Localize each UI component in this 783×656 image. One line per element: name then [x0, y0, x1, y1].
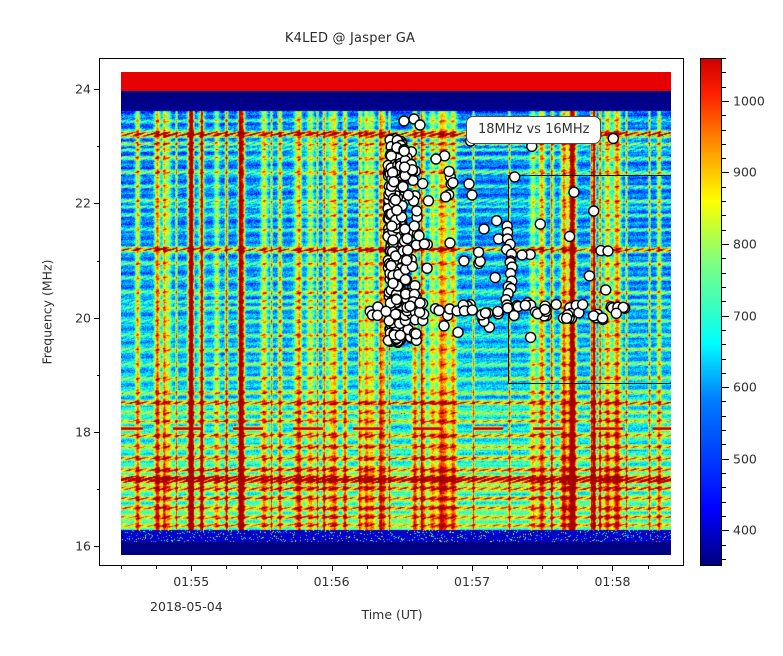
y-axis-title: Frequency (MHz)	[40, 259, 55, 364]
x-tick-minor	[261, 565, 262, 569]
colorbar-tick-major	[722, 101, 729, 102]
spectrogram-image	[121, 72, 671, 555]
x-tick-label: 01:57	[454, 574, 490, 589]
colorbar-tick-minor	[722, 215, 726, 216]
y-tick-major	[94, 432, 100, 433]
colorbar-tick-label: 500	[733, 451, 757, 466]
x-tick-minor	[648, 565, 649, 569]
colorbar-tick-minor	[722, 344, 726, 345]
y-tick-label: 16	[75, 539, 91, 554]
colorbar-tick-major	[722, 316, 729, 317]
x-tick-major	[332, 565, 333, 571]
x-tick-major	[472, 565, 473, 571]
y-tick-minor	[97, 489, 101, 490]
colorbar-tick-minor	[722, 301, 726, 302]
colorbar-tick-label: 700	[733, 308, 757, 323]
colorbar-tick-minor	[722, 115, 726, 116]
x-tick-label: 01:56	[314, 574, 350, 589]
plot-title: K4LED @ Jasper GA	[0, 31, 700, 46]
colorbar-tick-label: 400	[733, 523, 757, 538]
x-tick-minor	[297, 565, 298, 569]
x-tick-minor	[226, 565, 227, 569]
colorbar-tick-minor	[722, 401, 726, 402]
colorbar-tick-minor	[722, 258, 726, 259]
colorbar-tick-minor	[722, 373, 726, 374]
colorbar-tick-minor	[722, 545, 726, 546]
x-tick-major	[191, 565, 192, 571]
colorbar-tick-label: 600	[733, 380, 757, 395]
colorbar-tick-major	[722, 459, 729, 460]
colorbar-tick-minor	[722, 273, 726, 274]
figure-canvas: K4LED @ Jasper GA 1618202224 01:5501:560…	[0, 0, 783, 656]
colorbar-tick-minor	[722, 87, 726, 88]
x-tick-minor	[507, 565, 508, 569]
colorbar-tick-minor	[722, 502, 726, 503]
x-tick-major	[612, 565, 613, 571]
x-tick-label: 01:58	[594, 574, 630, 589]
y-tick-major	[94, 318, 100, 319]
colorbar-tick-minor	[722, 144, 726, 145]
y-tick-label: 22	[75, 196, 91, 211]
x-tick-minor	[156, 565, 157, 569]
y-tick-major	[94, 546, 100, 547]
colorbar-tick-minor	[722, 559, 726, 560]
colorbar-tick-minor	[722, 473, 726, 474]
colorbar-tick-minor	[722, 72, 726, 73]
annotation-label: 18MHz vs 16MHz	[466, 116, 601, 144]
colorbar-tick-major	[722, 244, 729, 245]
x-tick-minor	[367, 565, 368, 569]
colorbar-tick-major	[722, 530, 729, 531]
colorbar-tick-label: 900	[733, 165, 757, 180]
x-tick-minor	[437, 565, 438, 569]
y-tick-label: 20	[75, 310, 91, 325]
y-tick-major	[94, 203, 100, 204]
colorbar-tick-minor	[722, 201, 726, 202]
colorbar-tick-major	[722, 387, 729, 388]
colorbar-tick-minor	[722, 230, 726, 231]
colorbar-tick-minor	[722, 444, 726, 445]
x-tick-minor	[121, 565, 122, 569]
y-tick-label: 24	[75, 82, 91, 97]
x-axis-title: Time (UT)	[361, 607, 422, 622]
y-tick-minor	[97, 146, 101, 147]
x-tick-minor	[577, 565, 578, 569]
colorbar-tick-minor	[722, 416, 726, 417]
x-tick-minor	[402, 565, 403, 569]
colorbar-tick-minor	[722, 330, 726, 331]
colorbar-tick-label: 800	[733, 237, 757, 252]
colorbar-tick-minor	[722, 130, 726, 131]
colorbar-tick-major	[722, 172, 729, 173]
date-label: 2018-05-04	[150, 599, 223, 614]
y-tick-major	[94, 89, 100, 90]
colorbar-tick-label: 1000	[733, 93, 765, 108]
spectrogram-data-area[interactable]	[121, 72, 671, 555]
colorbar-tick-minor	[722, 487, 726, 488]
colorbar-tick-minor	[722, 58, 726, 59]
colorbar[interactable]: 4005006007008009001000	[700, 58, 722, 566]
colorbar-tick-minor	[722, 287, 726, 288]
y-tick-minor	[97, 375, 101, 376]
x-tick-minor	[542, 565, 543, 569]
colorbar-gradient	[700, 58, 722, 566]
y-tick-label: 18	[75, 425, 91, 440]
colorbar-tick-minor	[722, 430, 726, 431]
colorbar-tick-minor	[722, 359, 726, 360]
y-tick-minor	[97, 261, 101, 262]
colorbar-tick-minor	[722, 158, 726, 159]
colorbar-tick-minor	[722, 187, 726, 188]
x-tick-label: 01:55	[173, 574, 209, 589]
colorbar-tick-minor	[722, 516, 726, 517]
